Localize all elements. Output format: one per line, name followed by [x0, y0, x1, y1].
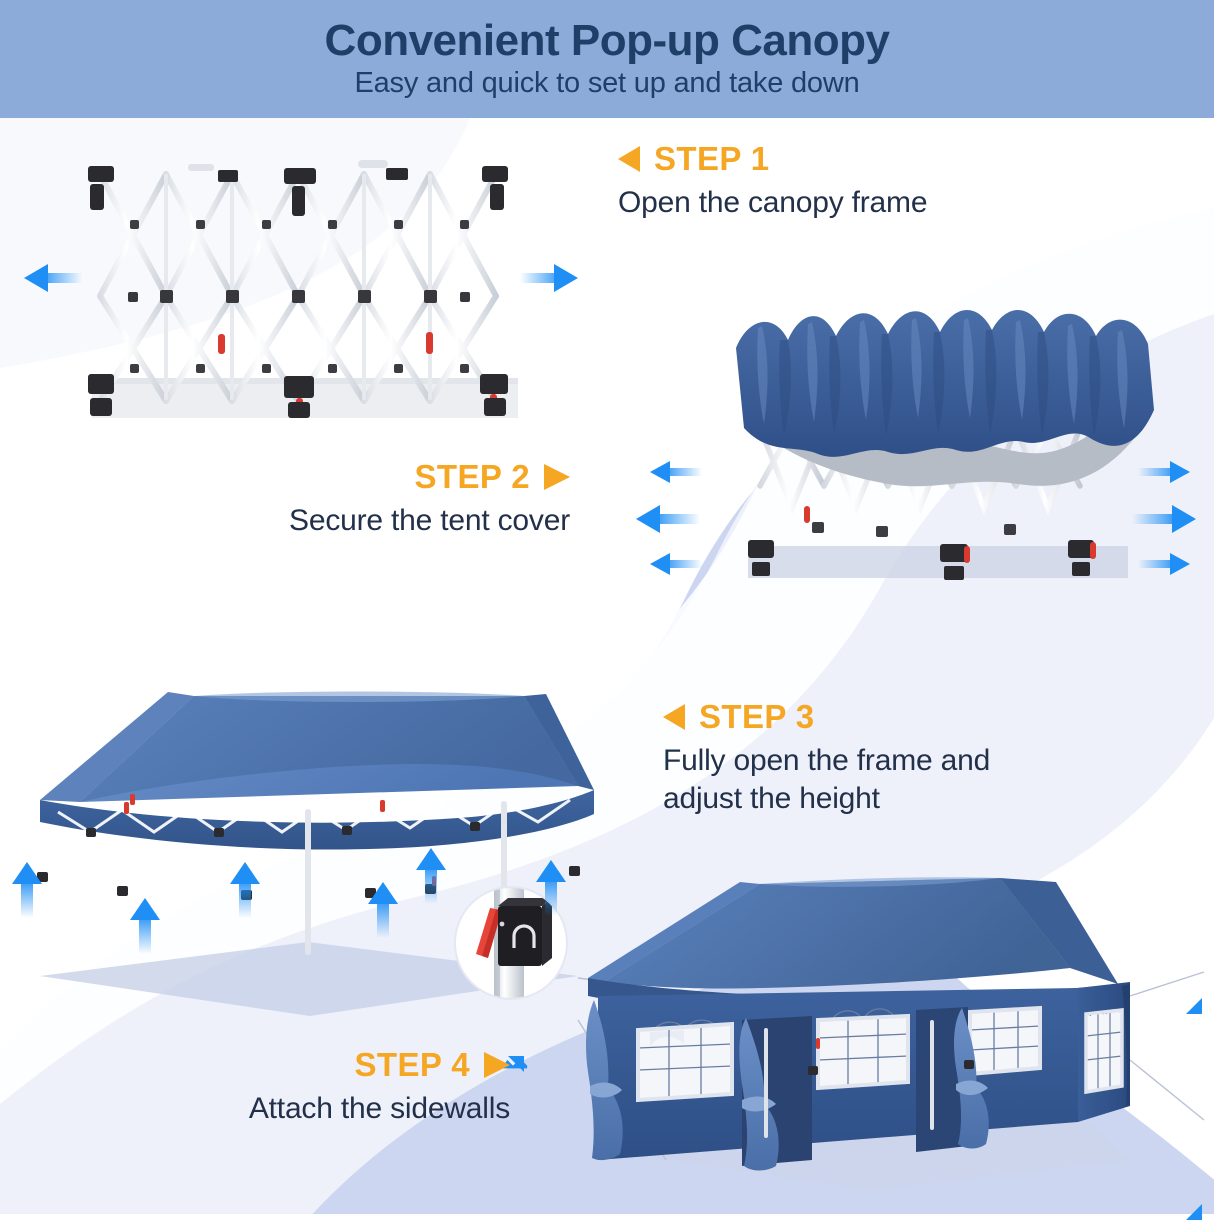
folded-canopy-frame-illustration: [70, 146, 540, 436]
triangle-right-icon: [544, 464, 570, 490]
triangle-left-icon: [663, 704, 685, 730]
lift-arrow-1: [10, 860, 44, 920]
step-4-label: STEP 4: [354, 1046, 470, 1084]
sidewall-window-3: [970, 1008, 1040, 1074]
compress-arrow-left-large: [634, 502, 702, 536]
canopy-with-sidewalls-illustration: [570, 860, 1214, 1214]
lift-arrow-3: [228, 860, 262, 920]
header-banner: Convenient Pop-up Canopy Easy and quick …: [0, 0, 1214, 118]
step-2-label: STEP 2: [414, 458, 530, 496]
compress-arrow-left-small-bottom: [648, 550, 704, 578]
step-2-heading: STEP 2: [160, 458, 570, 496]
step-4-heading: STEP 4: [110, 1046, 510, 1084]
triangle-right-icon: [484, 1052, 510, 1078]
attach-arrow-side-bottom: [1176, 1200, 1206, 1230]
canopy-with-cover-draped-illustration: [718, 278, 1188, 608]
sidewall-window-2: [818, 1009, 908, 1088]
step-3-body-line-1: Fully open the frame and: [663, 742, 1133, 780]
page-subtitle: Easy and quick to set up and take down: [354, 67, 859, 100]
endwall-window: [1086, 1010, 1122, 1092]
expand-arrow-right-large: [1130, 502, 1198, 536]
step-4-block: STEP 4 Attach the sidewalls: [110, 1046, 510, 1128]
triangle-left-icon: [618, 146, 640, 172]
step-3-body-line-2: adjust the height: [663, 780, 1133, 818]
compress-arrow-left-small-top: [648, 458, 704, 486]
lift-arrow-2: [128, 896, 162, 956]
illustration-stage: STEP 1 Open the canopy frame: [0, 118, 1214, 1214]
step-2-body: Secure the tent cover: [160, 502, 570, 540]
expand-arrow-left: [22, 260, 84, 296]
step-1-heading: STEP 1: [618, 140, 927, 178]
step-3-heading: STEP 3: [663, 698, 1133, 736]
step-3-block: STEP 3 Fully open the frame and adjust t…: [663, 698, 1133, 817]
expand-arrow-right-small-bottom: [1136, 550, 1192, 578]
step-2-block: STEP 2 Secure the tent cover: [160, 458, 570, 540]
step-1-block: STEP 1 Open the canopy frame: [618, 140, 927, 222]
sidewall-window-1: [638, 1020, 732, 1100]
step-4-body: Attach the sidewalls: [110, 1090, 510, 1128]
lift-arrow-6: [534, 858, 568, 918]
attach-arrow-side-top: [1176, 994, 1206, 1024]
lift-arrow-5: [414, 846, 448, 906]
step-3-label: STEP 3: [699, 698, 815, 736]
lift-arrow-4: [366, 880, 400, 940]
expand-arrow-right: [518, 260, 580, 296]
step-1-body: Open the canopy frame: [618, 184, 927, 222]
step-1-label: STEP 1: [654, 140, 770, 178]
page-title: Convenient Pop-up Canopy: [325, 18, 890, 65]
expand-arrow-right-small-top: [1136, 458, 1192, 486]
